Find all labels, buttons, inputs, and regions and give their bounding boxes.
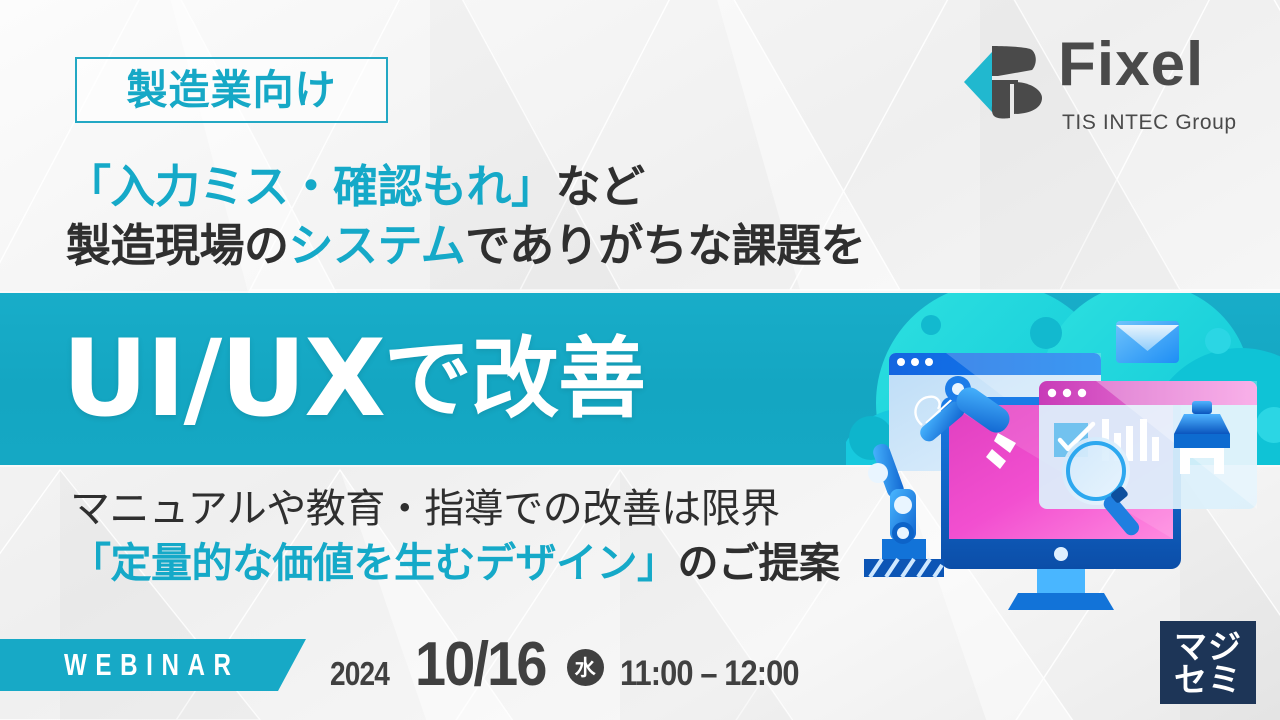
event-datetime: 2024 10/16 水 11:00 – 12:00 — [330, 634, 823, 696]
headline-line-2-tail: でありがちな課題を — [465, 219, 865, 272]
majisemi-logo: マジ セミ — [1160, 621, 1256, 704]
event-time: 11:00 – 12:00 — [620, 654, 799, 694]
subcopy-line-2-highlight: 「定量的な価値を生むデザイン」 — [70, 539, 678, 587]
subcopy: マニュアルや教育・指導での改善は限界 「定量的な価値を生むデザイン」のご提案 — [70, 483, 950, 590]
fixel-logo-name: Fixel — [1058, 34, 1204, 96]
envelope-icon — [1116, 321, 1179, 363]
majisemi-logo-line-1: マジ — [1174, 630, 1242, 663]
event-date: 10/16 — [415, 634, 546, 696]
headline-line-2-highlight: システム — [289, 219, 466, 272]
headline-line-1-tail: など — [556, 160, 645, 213]
headline-line-2: 製造現場のシステムでありがちな課題を — [66, 217, 1026, 276]
hero-headline: UI/UXで改善 — [62, 303, 645, 455]
audience-badge-label: 製造業向け — [127, 70, 337, 111]
fixel-logo: Fixel TIS INTEC Group — [958, 28, 1254, 138]
event-day-of-week: 水 — [567, 649, 604, 686]
webinar-banner: 製造業向け Fixel TIS INTEC Group 「入力ミス・確認もれ」な… — [0, 0, 1280, 720]
subcopy-line-1: マニュアルや教育・指導での改善は限界 — [70, 483, 950, 536]
hero-headline-japanese: で改善 — [384, 335, 645, 423]
headline-line-2-head: 製造現場の — [66, 219, 289, 272]
webinar-badge: WEBINAR — [0, 639, 306, 691]
event-year: 2024 — [330, 655, 389, 693]
majisemi-logo-line-2: セミ — [1174, 663, 1242, 696]
fixel-logo-mark-icon — [958, 36, 1050, 128]
webinar-badge-label: WEBINAR — [64, 647, 240, 683]
fixel-logo-subtitle: TIS INTEC Group — [1062, 112, 1237, 133]
subcopy-line-2-tail: のご提案 — [678, 539, 840, 587]
headline: 「入力ミス・確認もれ」など 製造現場のシステムでありがちな課題を — [66, 158, 1026, 275]
subcopy-line-2: 「定量的な価値を生むデザイン」のご提案 — [70, 536, 950, 590]
hero-headline-latin: UI/UX — [62, 326, 384, 432]
headline-line-1-highlight: 「入力ミス・確認もれ」 — [66, 160, 556, 213]
headline-line-1: 「入力ミス・確認もれ」など — [66, 158, 1026, 217]
audience-badge: 製造業向け — [75, 57, 388, 123]
